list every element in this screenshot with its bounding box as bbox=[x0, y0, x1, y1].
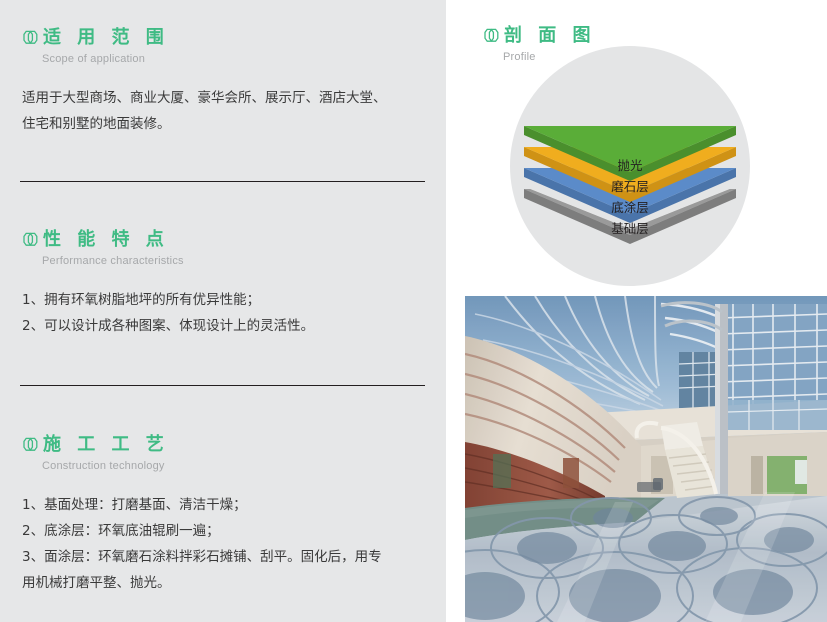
section-title-cn: 剖 面 图 bbox=[504, 26, 596, 46]
section-title-cn: 适 用 范 围 bbox=[43, 28, 169, 48]
layer-stack-diagram: 基础层 底涂层 磨石层 bbox=[524, 126, 736, 250]
diagram-layer-label: 抛光 bbox=[524, 159, 736, 173]
section-divider bbox=[20, 181, 425, 182]
section-title-row: 适 用 范 围 bbox=[20, 28, 446, 48]
section-title-cn: 性 能 特 点 bbox=[43, 230, 169, 250]
section-title-en: Scope of application bbox=[42, 53, 446, 66]
section-scope-of-application: 适 用 范 围 Scope of application 适用于大型商场、商业大… bbox=[0, 28, 446, 137]
section-title-row: 性 能 特 点 bbox=[20, 230, 446, 250]
section-title-row: 施 工 工 艺 bbox=[20, 435, 446, 455]
profile-circle-background: 基础层 底涂层 磨石层 bbox=[510, 46, 750, 286]
page-root: 适 用 范 围 Scope of application 适用于大型商场、商业大… bbox=[0, 0, 827, 622]
section-title-cn: 施 工 工 艺 bbox=[43, 435, 169, 455]
left-content-panel: 适 用 范 围 Scope of application 适用于大型商场、商业大… bbox=[0, 0, 446, 622]
section-title-row: 剖 面 图 bbox=[481, 26, 596, 46]
section-body: 适用于大型商场、商业大厦、豪华会所、展示厅、酒店大堂、 住宅和别墅的地面装修。 bbox=[0, 85, 446, 137]
body-line: 1、基面处理：打磨基面、清洁干燥； bbox=[22, 492, 422, 518]
body-line: 住宅和别墅的地面装修。 bbox=[22, 111, 422, 137]
hexagon-overlap-icon bbox=[20, 436, 39, 454]
body-line: 1、拥有环氧树脂地坪的所有优异性能； bbox=[22, 287, 422, 313]
body-line: 3、面涂层：环氧磨石涂料拌彩石摊铺、刮平。固化后，用专 bbox=[22, 544, 422, 570]
body-line: 2、底涂层：环氧底油辊刷一遍； bbox=[22, 518, 422, 544]
hexagon-overlap-icon bbox=[481, 27, 500, 45]
hexagon-overlap-icon bbox=[20, 29, 39, 47]
section-performance-characteristics: 性 能 特 点 Performance characteristics 1、拥有… bbox=[0, 230, 446, 339]
section-title-en: Construction technology bbox=[42, 460, 446, 473]
body-line: 2、可以设计成各种图案、体现设计上的灵活性。 bbox=[22, 313, 422, 339]
section-header: 施 工 工 艺 Construction technology bbox=[0, 435, 446, 473]
diagram-layer-polish: 抛光 bbox=[524, 126, 736, 186]
section-body: 1、拥有环氧树脂地坪的所有优异性能； 2、可以设计成各种图案、体现设计上的灵活性… bbox=[0, 287, 446, 339]
hexagon-overlap-icon bbox=[20, 231, 39, 249]
section-divider bbox=[20, 385, 425, 386]
section-body: 1、基面处理：打磨基面、清洁干燥； 2、底涂层：环氧底油辊刷一遍； 3、面涂层：… bbox=[0, 492, 446, 596]
atrium-lobby-terrazzo-floor-photo bbox=[465, 296, 827, 622]
section-construction-technology: 施 工 工 艺 Construction technology 1、基面处理：打… bbox=[0, 435, 446, 596]
body-line: 适用于大型商场、商业大厦、豪华会所、展示厅、酒店大堂、 bbox=[22, 85, 422, 111]
section-header: 性 能 特 点 Performance characteristics bbox=[0, 230, 446, 268]
body-line: 用机械打磨平整、抛光。 bbox=[22, 570, 422, 596]
section-header: 适 用 范 围 Scope of application bbox=[0, 28, 446, 66]
section-title-en: Performance characteristics bbox=[42, 255, 446, 268]
